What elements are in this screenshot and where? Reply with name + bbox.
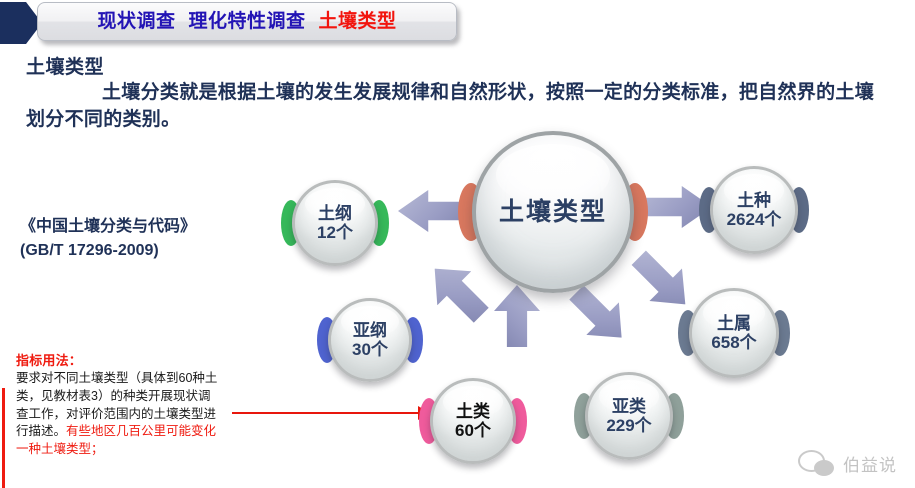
- standard-name: 《中国土壤分类与代码》: [20, 215, 196, 239]
- annotation-line-3: 查工作，对评价范围内的土壤类型进: [16, 406, 230, 424]
- wechat-icon: [798, 450, 834, 476]
- standard-code: (GB/T 17296-2009): [20, 239, 196, 263]
- breadcrumb-item-current-survey[interactable]: 现状调查: [97, 12, 175, 31]
- node-label: 土纲: [318, 204, 352, 223]
- annotation-line-5: 一种土壤类型；: [16, 441, 230, 459]
- node-label: 亚类: [612, 397, 646, 416]
- slide-canvas: 现状调查 理化特性调查 土壤类型 土壤类型 土壤分类就是根据土壤的发生发展规律和…: [0, 0, 915, 488]
- node-tushu[interactable]: 土属 658个: [689, 288, 779, 378]
- node-count: 30个: [352, 340, 388, 359]
- annotation-line-4-red: 有些地区几百公里可能变化: [66, 424, 216, 438]
- header-breadcrumb-tab: 现状调查 理化特性调查 土壤类型: [37, 2, 457, 41]
- node-sphere: 亚纲 30个: [328, 298, 412, 382]
- node-label: 土属: [717, 314, 751, 333]
- red-pointer-arrow-shaft: [232, 412, 422, 414]
- arrow-to-tulei: [494, 285, 540, 347]
- node-label: 亚纲: [353, 321, 387, 340]
- watermark-text: 伯益说: [843, 451, 897, 476]
- node-tuzhong[interactable]: 土种 2624个: [710, 166, 798, 254]
- annotation-line-4: 行描述。有些地区几百公里可能变化: [16, 423, 230, 441]
- node-yagang[interactable]: 亚纲 30个: [328, 298, 412, 382]
- page-title: 土壤类型: [26, 52, 104, 79]
- node-count: 60个: [455, 421, 491, 440]
- node-count: 12个: [317, 223, 353, 242]
- node-sphere: 土属 658个: [689, 288, 779, 378]
- node-label: 土种: [737, 191, 771, 210]
- node-label: 土壤类型: [499, 198, 607, 226]
- node-count: 2624个: [727, 210, 782, 229]
- node-sphere: 土壤类型: [472, 131, 634, 293]
- node-tulei[interactable]: 土类 60个: [430, 378, 516, 464]
- standard-reference: 《中国土壤分类与代码》 (GB/T 17296-2009): [20, 215, 196, 263]
- node-label: 土类: [456, 402, 490, 421]
- annotation-left-rule: [2, 388, 5, 488]
- usage-annotation: 指标用法： 要求对不同土壤类型（具体到60种土 类，见教材表3）的种类开展现状调…: [16, 350, 230, 459]
- annotation-line-1: 要求对不同土壤类型（具体到60种土: [16, 370, 230, 388]
- node-yalei[interactable]: 亚类 229个: [585, 372, 673, 460]
- annotation-body: 要求对不同土壤类型（具体到60种土 类，见教材表3）的种类开展现状调 查工作，对…: [16, 370, 230, 459]
- body-paragraph: 土壤分类就是根据土壤的发生发展规律和自然形状，按照一定的分类标准，把自然界的土壤…: [26, 80, 886, 134]
- annotation-line-2: 类，见教材表3）的种类开展现状调: [16, 388, 230, 406]
- watermark: 伯益说: [798, 450, 897, 476]
- header-chevron-decoration: [0, 2, 42, 44]
- wechat-bubble-solid: [814, 460, 834, 476]
- node-count: 229个: [606, 416, 651, 435]
- node-sphere: 土种 2624个: [710, 166, 798, 254]
- annotation-line-4-black: 行描述。: [16, 424, 66, 438]
- breadcrumb-item-physchem-survey[interactable]: 理化特性调查: [188, 12, 305, 31]
- node-tugang[interactable]: 土纲 12个: [292, 180, 378, 266]
- breadcrumb-item-soil-type[interactable]: 土壤类型: [319, 12, 397, 31]
- node-sphere: 亚类 229个: [585, 372, 673, 460]
- node-count: 658个: [711, 333, 756, 352]
- node-soil-type-center[interactable]: 土壤类型: [472, 131, 634, 293]
- annotation-title: 指标用法：: [16, 350, 230, 369]
- node-sphere: 土类 60个: [430, 378, 516, 464]
- node-sphere: 土纲 12个: [292, 180, 378, 266]
